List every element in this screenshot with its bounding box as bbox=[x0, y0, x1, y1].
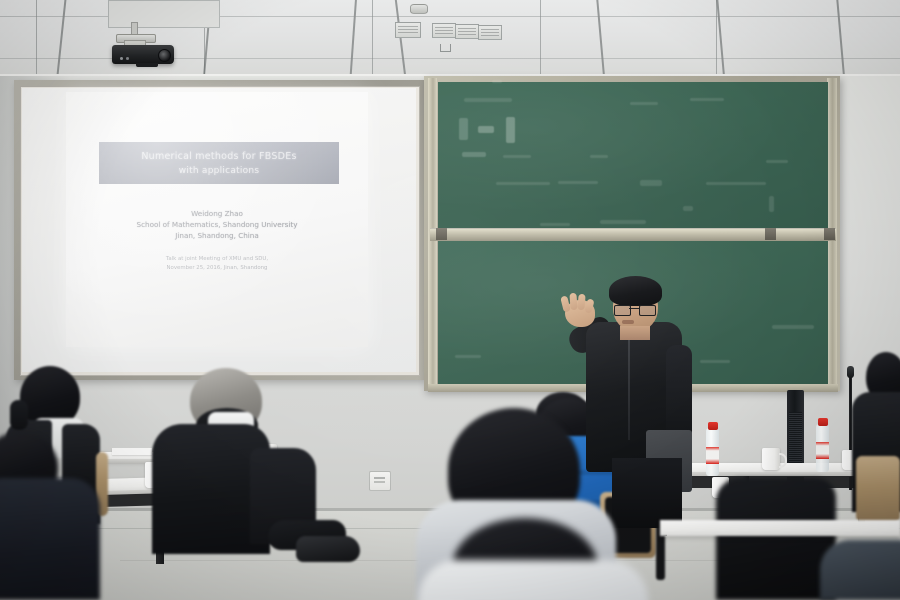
projector-base bbox=[136, 63, 158, 67]
bottle-cap bbox=[818, 418, 828, 426]
blackboard-rail-clip bbox=[824, 228, 835, 240]
slide-title-line1: Numerical methods for FBSDEs bbox=[141, 151, 296, 162]
projector-lens-icon bbox=[158, 49, 171, 62]
chalk-mark bbox=[503, 155, 531, 158]
table-row bbox=[660, 520, 900, 536]
slide-title-bar: Numerical methods for FBSDEs with applic… bbox=[99, 142, 339, 184]
smoke-detector-icon bbox=[410, 4, 428, 14]
speaker-grille bbox=[789, 412, 802, 470]
chalk-mark bbox=[506, 117, 515, 143]
blackboard-rail-clip bbox=[765, 228, 776, 240]
bottle-label bbox=[816, 442, 829, 459]
slide-affiliation: School of Mathematics, Shandong Universi… bbox=[66, 219, 368, 230]
chair bbox=[856, 456, 900, 522]
shoe bbox=[296, 536, 360, 562]
slide-event-note: Talk at joint Meeting of XMU and SDU, No… bbox=[66, 255, 368, 272]
projector-indicator bbox=[126, 57, 129, 60]
lecture-hall-photo: Numerical methods for FBSDEs with applic… bbox=[0, 0, 900, 600]
ceiling-hook bbox=[440, 44, 451, 52]
ceiling-projector bbox=[112, 45, 174, 64]
air-vent-grille bbox=[432, 23, 456, 38]
ceiling-tile bbox=[108, 0, 220, 28]
air-vent-grille bbox=[478, 25, 502, 40]
chalk-mark bbox=[462, 152, 486, 157]
slide-author-name: Weidong Zhao bbox=[66, 208, 368, 219]
speaker-legs bbox=[612, 458, 682, 528]
blackboard-rail-clip bbox=[436, 228, 447, 240]
bottle-cap bbox=[708, 422, 718, 430]
slide-title-line2: with applications bbox=[179, 166, 260, 176]
slide-note-line1: Talk at joint Meeting of XMU and SDU, bbox=[66, 255, 368, 264]
eyeglasses-icon bbox=[614, 305, 654, 314]
chalk-mark bbox=[459, 118, 468, 140]
wall-outlet[interactable] bbox=[369, 471, 391, 491]
microphone-icon bbox=[847, 366, 854, 378]
slide-location: Jinan, Shandong, China bbox=[66, 230, 368, 241]
paper-sheet bbox=[112, 448, 152, 455]
chalk-mark bbox=[464, 98, 512, 102]
jacket-zipper bbox=[628, 330, 630, 440]
air-vent-grille bbox=[455, 24, 479, 39]
mug bbox=[762, 448, 780, 470]
list-item bbox=[716, 478, 836, 600]
projected-slide: Numerical methods for FBSDEs with applic… bbox=[66, 92, 368, 347]
list-item bbox=[820, 540, 900, 600]
chalk-mark bbox=[478, 126, 494, 133]
bottle-label bbox=[706, 447, 719, 464]
projector-indicator bbox=[120, 57, 123, 60]
air-vent-grille bbox=[395, 22, 421, 38]
speaker-hair bbox=[609, 276, 662, 306]
slide-author-block: Weidong Zhao School of Mathematics, Shan… bbox=[66, 208, 368, 241]
slide-note-line2: November 25, 2016, Jinan, Shandong bbox=[66, 264, 368, 273]
